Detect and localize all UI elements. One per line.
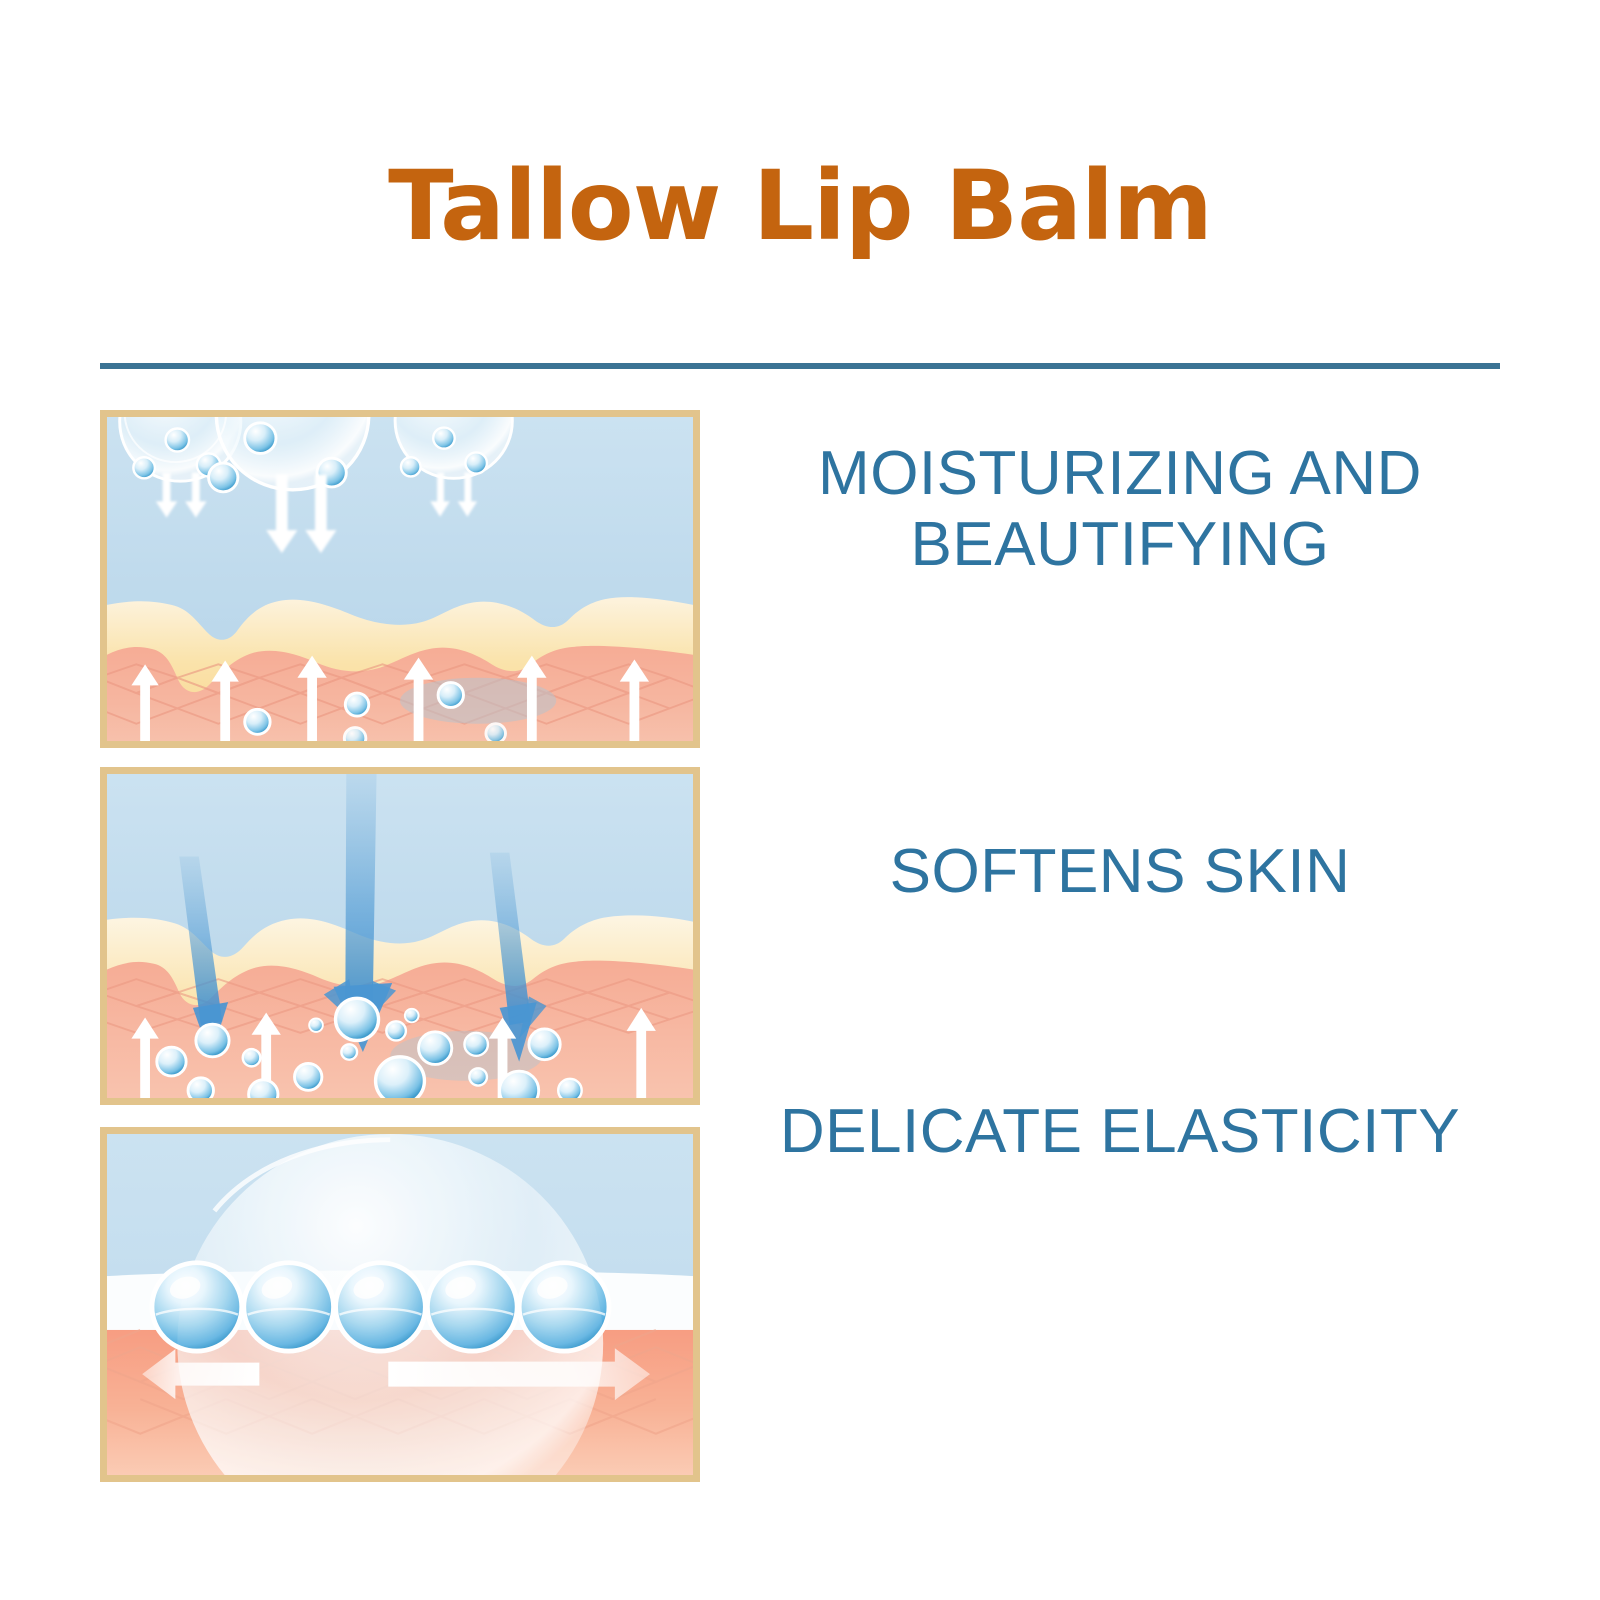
feature-label-softening: SOFTENS SKIN [720,836,1520,907]
skin-cross-section-droplets-absorbing-icon [107,417,693,741]
illustration-panel-elasticity [100,1127,700,1482]
page-title: Tallow Lip Balm [0,155,1600,259]
illustration-panel-softening [100,767,700,1105]
header-divider [100,363,1500,369]
skin-cross-section-penetrating-beams-icon [107,774,693,1098]
feature-label-elasticity: DELICATE ELASTICITY [720,1096,1520,1167]
feature-label-moisturizing: MOISTURIZING AND BEAUTIFYING [720,438,1520,581]
skin-cross-section-elastic-spheres-icon [107,1134,693,1475]
illustration-panel-moisturizing [100,410,700,748]
